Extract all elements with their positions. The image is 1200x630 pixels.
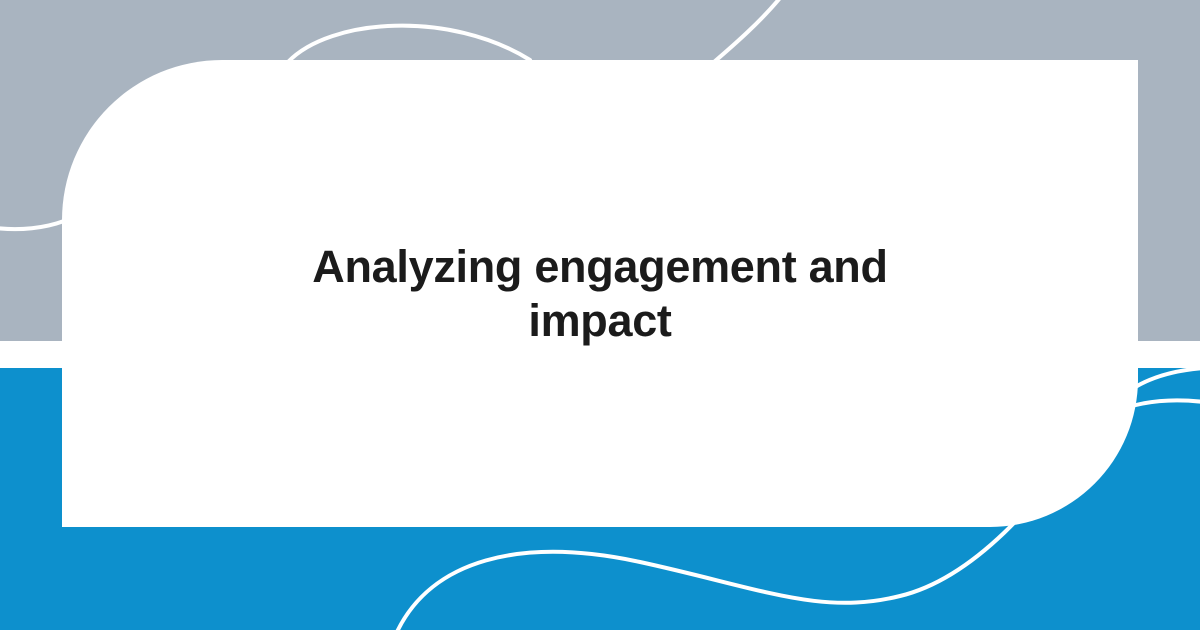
title-container: Analyzing engagement and impact (62, 60, 1138, 527)
page-title: Analyzing engagement and impact (280, 240, 920, 346)
banner-canvas: Analyzing engagement and impact (0, 0, 1200, 630)
